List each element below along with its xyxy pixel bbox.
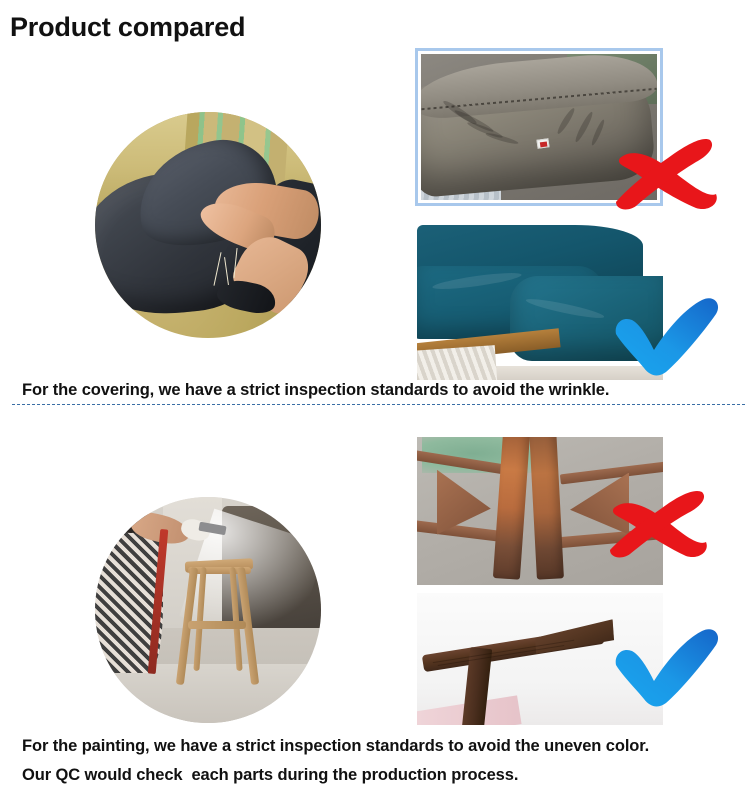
caption-painting: For the painting, we have a strict inspe…: [22, 737, 649, 756]
caption-qc-process: Our QC would check each parts during the…: [22, 766, 518, 785]
photo-walnut-chair-joint-even-color: [417, 593, 663, 725]
photo-teal-velvet-sofa-smooth: [417, 222, 663, 380]
process-photo-covering: [95, 112, 321, 338]
product-comparison-page: Product compared: [0, 0, 750, 800]
page-title: Product compared: [10, 12, 245, 43]
caption-covering: For the covering, we have a strict inspe…: [22, 381, 609, 400]
photo-frame-grey-sofa: [415, 48, 663, 206]
photo-wooden-frame-uneven-color: [417, 437, 663, 585]
process-photo-painting: [95, 497, 321, 723]
fabric-brand-tag: [536, 138, 549, 149]
photo-grey-velvet-sofa-arm-wrinkled: [421, 54, 657, 200]
section-divider: [12, 404, 745, 405]
